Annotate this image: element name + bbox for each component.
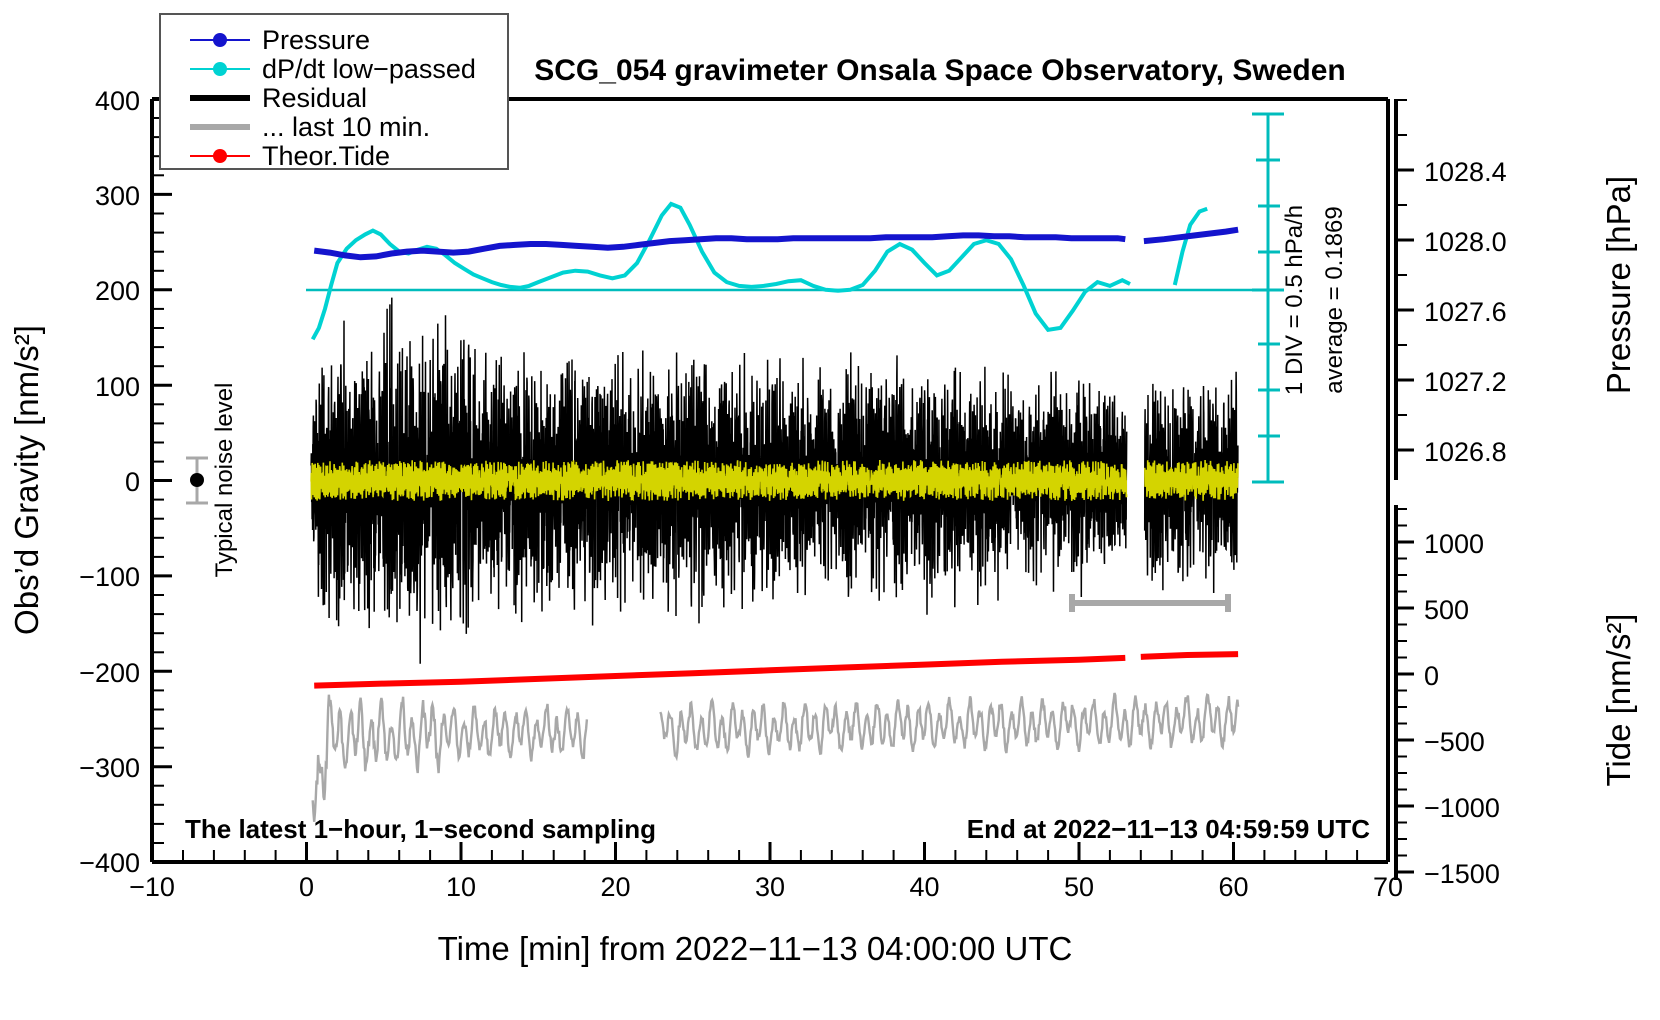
y-left-tick-2: 200 — [95, 276, 140, 306]
y-left-tick-4: 0 — [125, 467, 140, 497]
x-tick-4: 30 — [755, 872, 785, 902]
pressure-tick-0: 1028.4 — [1424, 157, 1507, 187]
gravimeter-plot-page: 400 300 200 100 0 −100 −200 −300 −400 Ob… — [0, 0, 1660, 1020]
plot-svg: 400 300 200 100 0 −100 −200 −300 −400 Ob… — [0, 0, 1660, 1020]
x-tick-5: 40 — [909, 872, 939, 902]
x-tick-6: 50 — [1064, 872, 1094, 902]
pressure-tick-3: 1027.2 — [1424, 367, 1507, 397]
x-tick-3: 20 — [600, 872, 630, 902]
x-tick-1: 0 — [299, 872, 314, 902]
y-left-tick-5: −100 — [79, 562, 140, 592]
pressure-tick-1: 1028.0 — [1424, 227, 1507, 257]
dpdt-marker-icon — [213, 62, 227, 76]
x-tick-8: 70 — [1373, 872, 1403, 902]
pressure-tick-4: 1026.8 — [1424, 437, 1507, 467]
y-left-tick-7: −300 — [79, 753, 140, 783]
tide-tick-1: 500 — [1424, 595, 1469, 625]
y-left-tick-0: 400 — [95, 86, 140, 116]
y-left-tick-6: −200 — [79, 658, 140, 688]
tide-tick-4: −1000 — [1424, 793, 1500, 823]
footer-left: The latest 1−hour, 1−second sampling — [185, 814, 656, 844]
x-axis-title: Time [min] from 2022−11−13 04:00:00 UTC — [438, 930, 1073, 967]
x-tick-2: 10 — [446, 872, 476, 902]
tide-marker-icon — [213, 149, 227, 163]
tide-tick-0: 1000 — [1424, 529, 1484, 559]
y-left-axis-title: Obs’d Gravity [nm/s²] — [8, 325, 45, 635]
legend-label-tide: Theor.Tide — [262, 141, 390, 171]
pressure-tick-2: 1027.6 — [1424, 297, 1507, 327]
x-tick-0: −10 — [129, 872, 175, 902]
typical-noise-level-label: Typical noise level — [211, 383, 238, 578]
y-left-tick-1: 300 — [95, 181, 140, 211]
tide-tick-5: −1500 — [1424, 859, 1500, 889]
pressure-marker-icon — [213, 33, 227, 47]
legend[interactable]: Pressure dP/dt low−passed Residual ... l… — [160, 14, 508, 171]
div-scale-label: 1 DIV = 0.5 hPa/h — [1281, 205, 1308, 395]
tide-tick-2: 0 — [1424, 661, 1439, 691]
tide-tick-3: −500 — [1424, 727, 1485, 757]
page-title: SCG_054 gravimeter Onsala Space Observat… — [534, 54, 1346, 87]
y-right-tide-title: Tide [nm/s²] — [1600, 614, 1637, 787]
footer-right: End at 2022−11−13 04:59:59 UTC — [967, 814, 1370, 844]
y-right-pressure-title: Pressure [hPa] — [1600, 176, 1637, 394]
legend-label-dpdt: dP/dt low−passed — [262, 54, 476, 84]
legend-label-pressure: Pressure — [262, 25, 370, 55]
y-left-tick-3: 100 — [95, 372, 140, 402]
legend-label-last10: ... last 10 min. — [262, 112, 430, 142]
legend-label-residual: Residual — [262, 83, 367, 113]
x-tick-7: 60 — [1218, 872, 1248, 902]
average-label: average = 0.1869 — [1321, 206, 1348, 394]
